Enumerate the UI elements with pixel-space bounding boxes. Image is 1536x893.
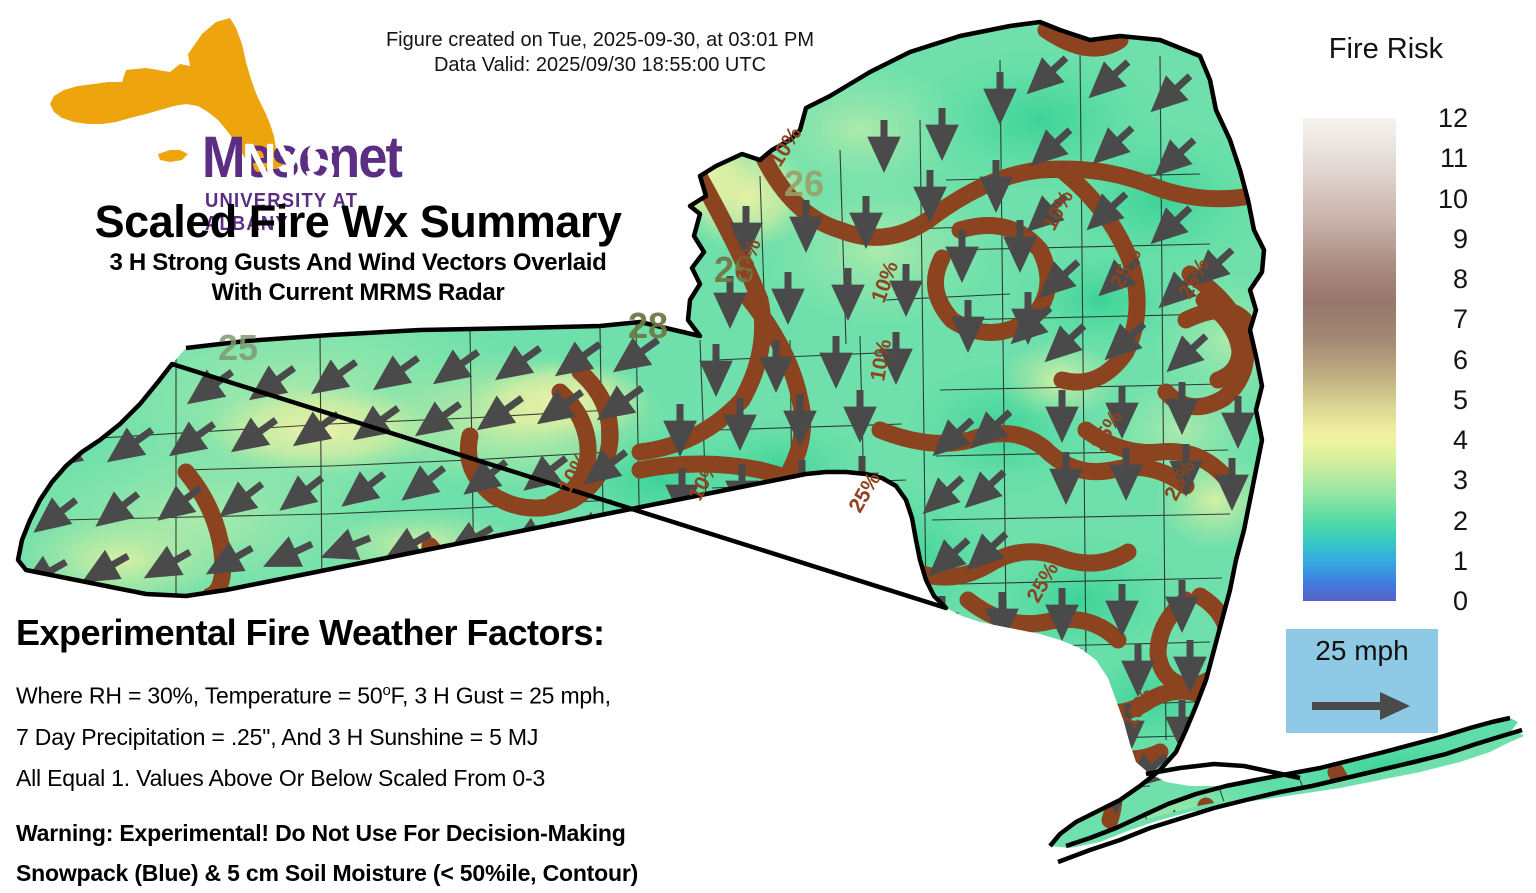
factors-line-1-a: Where RH = 30%, Temperature = 50: [16, 683, 382, 709]
colorbar-tick: 0: [1453, 588, 1468, 615]
colorbar-tick: 1: [1453, 548, 1468, 575]
valid-line: Data Valid: 2025/09/30 18:55:00 UTC: [340, 53, 860, 78]
created-line: Figure created on Tue, 2025-09-30, at 03…: [340, 28, 860, 53]
subtitle-line-1: 3 H Strong Gusts And Wind Vectors Overla…: [28, 248, 688, 278]
logo-nys-text: NYS: [242, 132, 334, 194]
colorbar-tick: 4: [1453, 427, 1468, 454]
warning-line-1: Warning: Experimental! Do Not Use For De…: [16, 813, 916, 853]
factors-line-3: All Equal 1. Values Above Or Below Scale…: [16, 758, 916, 799]
colorbar-tick: 9: [1453, 226, 1468, 253]
title-block: Scaled Fire Wx Summary 3 H Strong Gusts …: [28, 196, 688, 308]
colorbar-tick: 2: [1453, 508, 1468, 535]
svg-text:28: 28: [628, 305, 668, 346]
nys-mesonet-logo: Mesonet NYS UNIVERSITY AT ALBANY: [30, 14, 380, 182]
colorbar-tick: 5: [1453, 387, 1468, 414]
colorbar-tick: 12: [1438, 105, 1468, 132]
colorbar-tick: 6: [1453, 347, 1468, 374]
wind-speed-legend: 25 mph: [1286, 629, 1438, 733]
svg-text:25: 25: [218, 327, 258, 368]
page-title: Scaled Fire Wx Summary: [28, 196, 688, 248]
factors-line-1: Where RH = 30%, Temperature = 50oF, 3 H …: [16, 670, 916, 717]
colorbar-title: Fire Risk: [1306, 33, 1466, 66]
factors-line-1-b: F, 3 H Gust = 25 mph,: [391, 683, 611, 709]
figure-timestamp: Figure created on Tue, 2025-09-30, at 03…: [340, 28, 860, 78]
colorbar-tick: 3: [1453, 467, 1468, 494]
wind-legend-label: 25 mph: [1286, 635, 1438, 667]
warning-line-2: Snowpack (Blue) & 5 cm Soil Moisture (< …: [16, 853, 916, 893]
degree-symbol: o: [382, 682, 390, 699]
colorbar-tick: 11: [1440, 145, 1468, 172]
factors-heading: Experimental Fire Weather Factors:: [16, 612, 916, 654]
fire-weather-factors-block: Experimental Fire Weather Factors: Where…: [16, 612, 916, 893]
colorbar-tick: 10: [1438, 186, 1468, 213]
subtitle-line-2: With Current MRMS Radar: [28, 278, 688, 308]
colorbar-tick: 7: [1453, 306, 1468, 333]
colorbar-tick-labels: 1211109876543210: [1420, 110, 1480, 610]
wind-arrow-icon: [1310, 689, 1414, 723]
svg-text:26: 26: [784, 163, 824, 204]
colorbar-tick: 8: [1453, 266, 1468, 293]
fire-risk-colorbar: [1303, 118, 1396, 601]
factors-line-2: 7 Day Precipitation = .25", And 3 H Suns…: [16, 717, 916, 758]
